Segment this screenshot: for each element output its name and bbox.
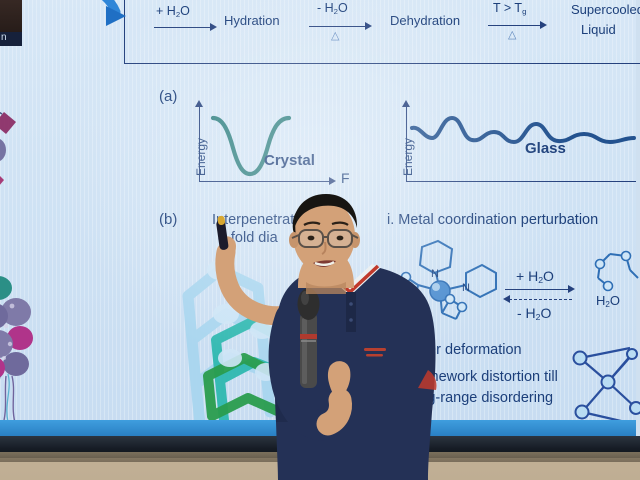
presenter-head <box>268 190 378 300</box>
screenshot-root: + H2O Hydration - H2O △ Dehydration T > … <box>0 0 640 480</box>
presenter <box>0 0 640 480</box>
